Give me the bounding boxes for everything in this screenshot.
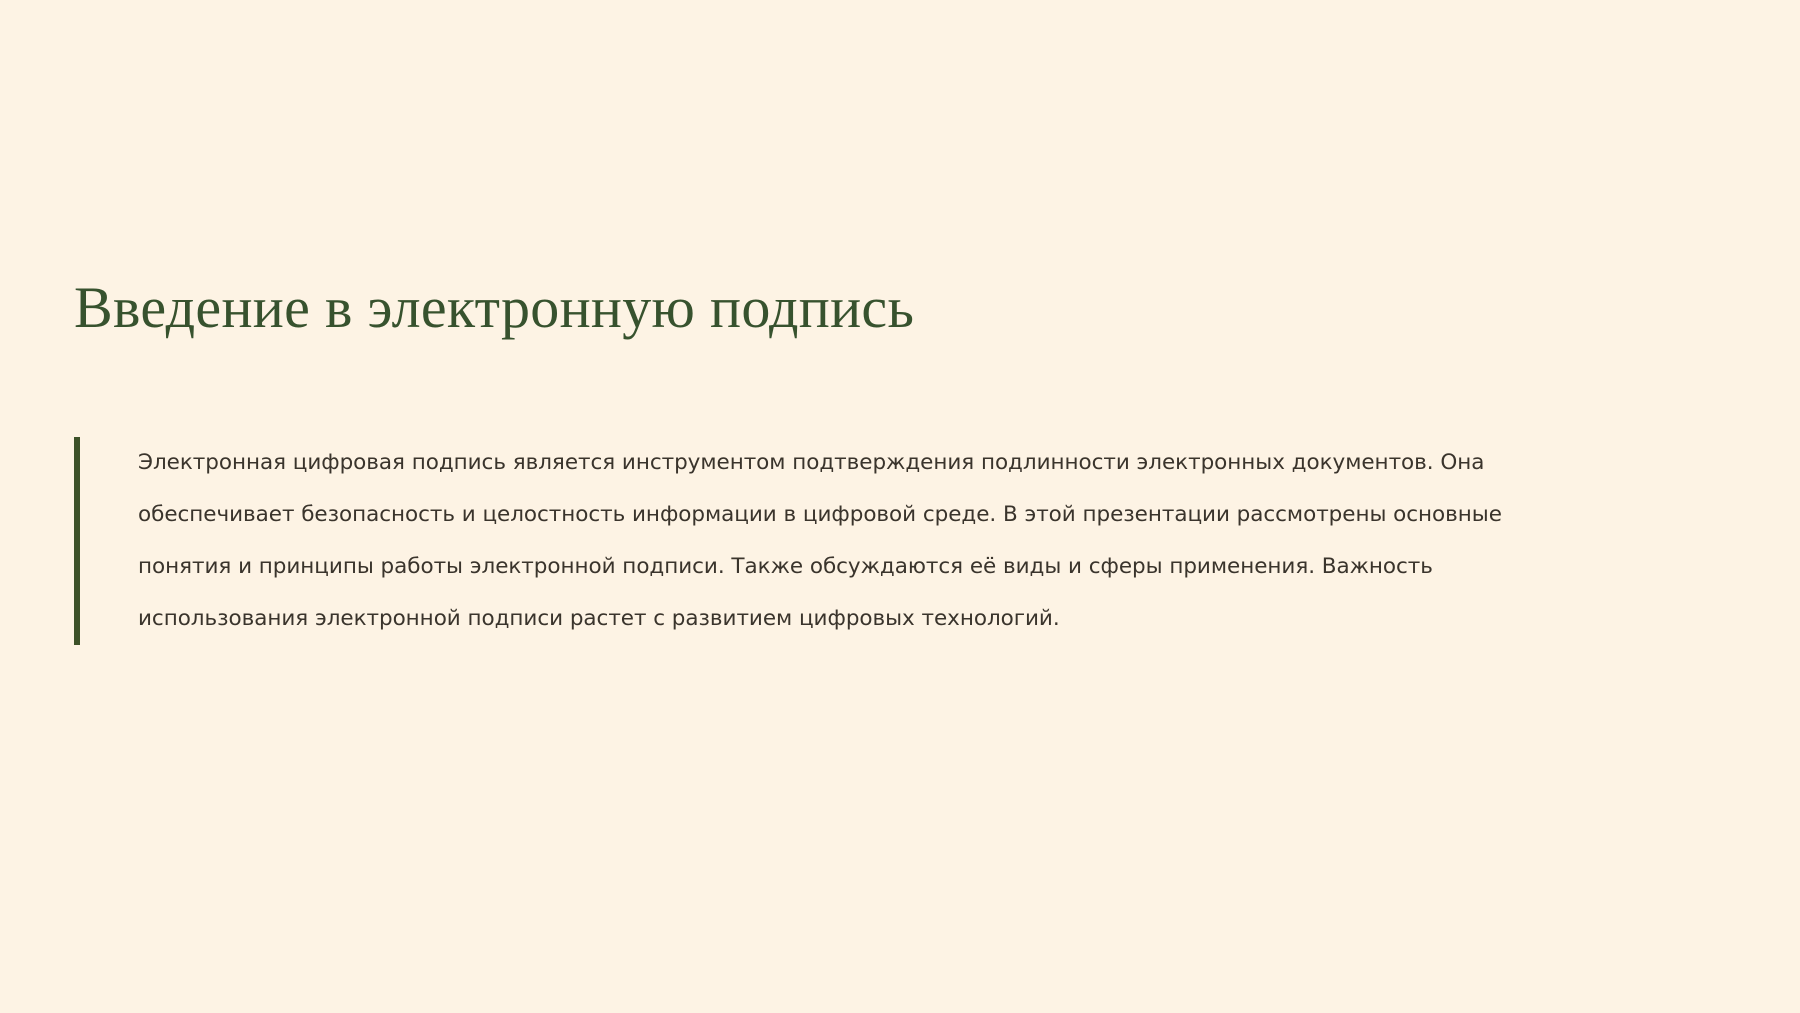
presentation-slide: Введение в электронную подпись Электронн… (0, 0, 1800, 1013)
slide-body-block: Электронная цифровая подпись является ин… (74, 437, 1554, 645)
slide-body-text: Электронная цифровая подпись является ин… (80, 437, 1554, 645)
slide-title: Введение в электронную подпись (74, 275, 1714, 342)
